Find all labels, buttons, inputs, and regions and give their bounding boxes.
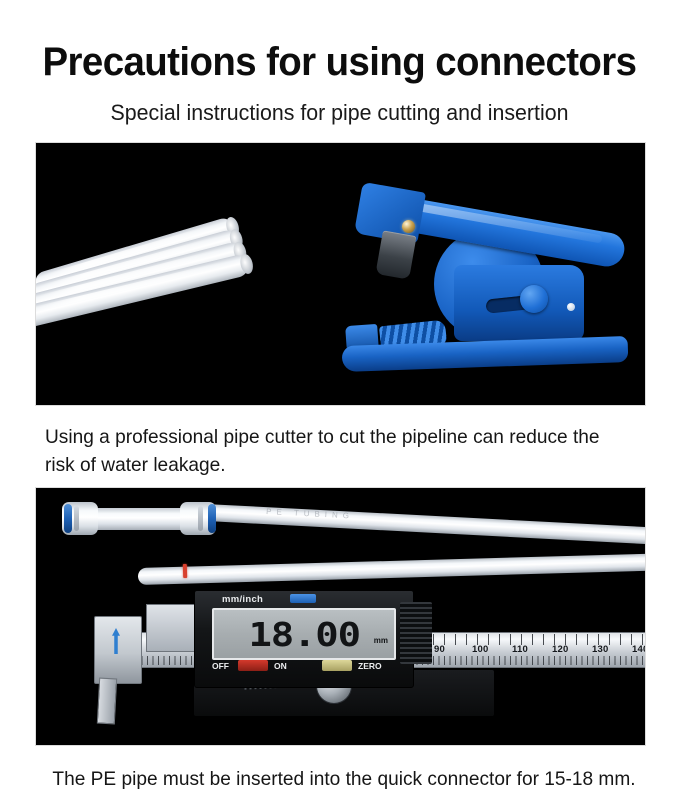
caliper-tick-label: 110 bbox=[512, 644, 528, 655]
insertion-caption: The PE pipe must be inserted into the qu… bbox=[30, 766, 657, 794]
pe-tube-bundle bbox=[36, 263, 252, 383]
cutter-blade bbox=[375, 230, 416, 279]
cutter-pin-dot bbox=[567, 303, 575, 311]
page-title: Precautions for using connectors bbox=[14, 41, 666, 83]
connector-collet bbox=[64, 504, 72, 533]
caliper-on-button[interactable]: ON bbox=[274, 661, 287, 671]
caliper-fixed-jaw bbox=[94, 616, 142, 684]
caliper-zero-pad[interactable] bbox=[322, 660, 352, 671]
blue-pipe-cutter bbox=[336, 173, 636, 383]
cutting-caption: Using a professional pipe cutter to cut … bbox=[45, 424, 633, 479]
caliper-reading-unit: mm bbox=[374, 636, 388, 645]
caliper-zero-button[interactable]: ZERO bbox=[358, 661, 382, 671]
caliper-tick-label: 120 bbox=[552, 644, 568, 655]
caliper-mode-label: mm/inch bbox=[222, 594, 263, 605]
caliper-tick-label: 100 bbox=[472, 644, 488, 655]
connector-collet bbox=[208, 504, 216, 533]
quick-connector bbox=[62, 502, 222, 536]
caliper-grip-grill bbox=[400, 602, 432, 664]
caliper-reading: 18.00 bbox=[248, 615, 359, 654]
cutter-release-knob bbox=[520, 285, 548, 313]
page-subtitle: Special instructions for pipe cutting an… bbox=[10, 100, 669, 126]
cutter-screw bbox=[402, 220, 415, 233]
pipe-insertion-depth-measurement-photo: PE TUBING 0 10 20 90 100 110 120 130 140 bbox=[36, 488, 645, 745]
caliper-on-pad[interactable] bbox=[238, 660, 268, 671]
caliper-jaw-tip bbox=[97, 678, 117, 725]
caliper-tick-label: 90 bbox=[434, 644, 445, 655]
infographic-page: Precautions for using connectors Special… bbox=[0, 0, 679, 797]
pe-pipe-measured bbox=[138, 553, 645, 585]
connector-body bbox=[92, 508, 192, 530]
caliper-mode-button[interactable] bbox=[290, 594, 316, 603]
pe-tubes-and-pipe-cutter-photo bbox=[36, 143, 645, 405]
caliper-tick-label: 140 bbox=[632, 644, 645, 655]
caliper-off-button[interactable]: OFF bbox=[212, 661, 229, 671]
caliper-tick-label: 130 bbox=[592, 644, 608, 655]
connector-ring bbox=[198, 506, 203, 531]
caliper-lcd-screen: 18.00 mm bbox=[212, 608, 396, 660]
insertion-depth-mark bbox=[183, 564, 187, 578]
caliper-button-row: OFF ON ZERO bbox=[212, 660, 396, 672]
connector-ring bbox=[74, 506, 79, 531]
digital-vernier-caliper: 0 10 20 90 100 110 120 130 140 150 in mm… bbox=[94, 598, 645, 738]
